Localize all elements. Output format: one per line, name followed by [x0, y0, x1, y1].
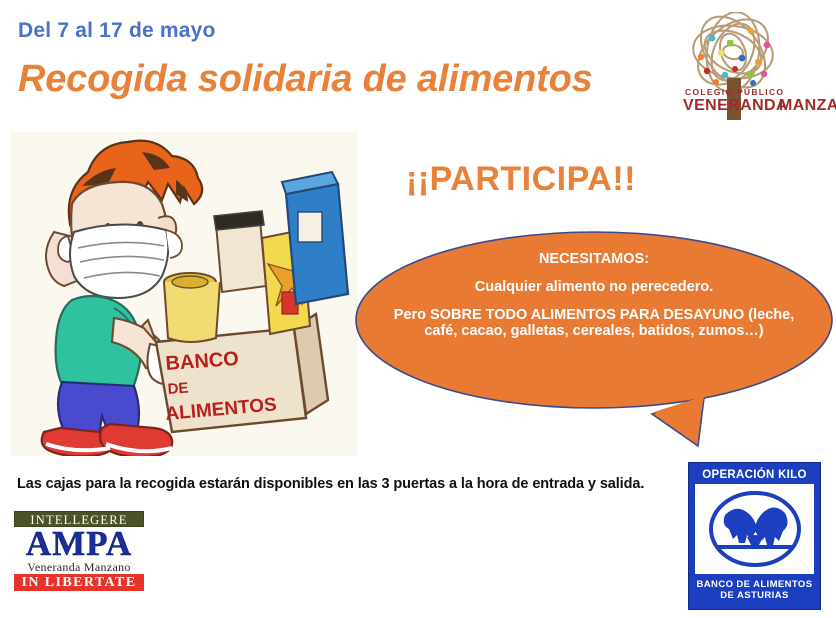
- banco-bottom-text: BANCO DE ALIMENTOS DE ASTURIAS: [695, 574, 814, 601]
- school-logo-small-text: COLEGIO PÚBLICO: [669, 87, 827, 97]
- speech-bubble-line-1: Cualquier alimento no perecedero.: [392, 280, 796, 295]
- call-to-action-text: ¡¡PARTICIPA!!: [406, 160, 636, 199]
- bottom-note: Las cajas para la recogida estarán dispo…: [17, 476, 644, 492]
- poster-canvas: Del 7 al 17 de mayo Recogida solidaria d…: [0, 0, 836, 618]
- speech-bubble-heading: NECESITAMOS:: [392, 252, 796, 267]
- ampa-acronym: AMPA: [14, 527, 144, 560]
- date-line: Del 7 al 17 de mayo: [18, 19, 216, 43]
- ampa-logo: INTELLEGERE AMPA Veneranda Manzano IN LI…: [14, 511, 144, 599]
- school-logo: COLEGIO PÚBLICO VENERANDA MANZANO: [663, 12, 833, 124]
- banco-emblem-panel: [695, 484, 814, 574]
- illustration-box-label-2: DE: [167, 380, 189, 398]
- speech-bubble-text: NECESITAMOS: Cualquier alimento no perec…: [392, 252, 796, 339]
- page-title: Recogida solidaria de alimentos: [18, 58, 593, 101]
- school-logo-name-right: MANZANO: [779, 97, 836, 115]
- banco-birds-icon: [703, 487, 807, 571]
- speech-bubble: NECESITAMOS: Cualquier alimento no perec…: [352, 228, 836, 453]
- banco-top-text: OPERACIÓN KILO: [695, 468, 814, 484]
- school-logo-name-left: VENERANDA: [683, 97, 788, 115]
- ampa-bottom-motto: IN LIBERTATE: [14, 574, 144, 591]
- banco-bottom-line-1: BANCO DE ALIMENTOS: [695, 579, 814, 590]
- speech-bubble-line-2: Pero SOBRE TODO ALIMENTOS PARA DESAYUNO …: [392, 308, 796, 338]
- banco-bottom-line-2: DE ASTURIAS: [695, 590, 814, 601]
- illustration-boy-with-food-box: BANCO DE ALIMENTOS: [10, 132, 358, 456]
- ampa-school-name: Veneranda Manzano: [14, 560, 144, 574]
- banco-de-alimentos-logo: OPERACIÓN KILO BANCO DE ALIMENTOS DE AST…: [688, 462, 821, 610]
- illustration-drawing: BANCO DE ALIMENTOS: [10, 132, 358, 456]
